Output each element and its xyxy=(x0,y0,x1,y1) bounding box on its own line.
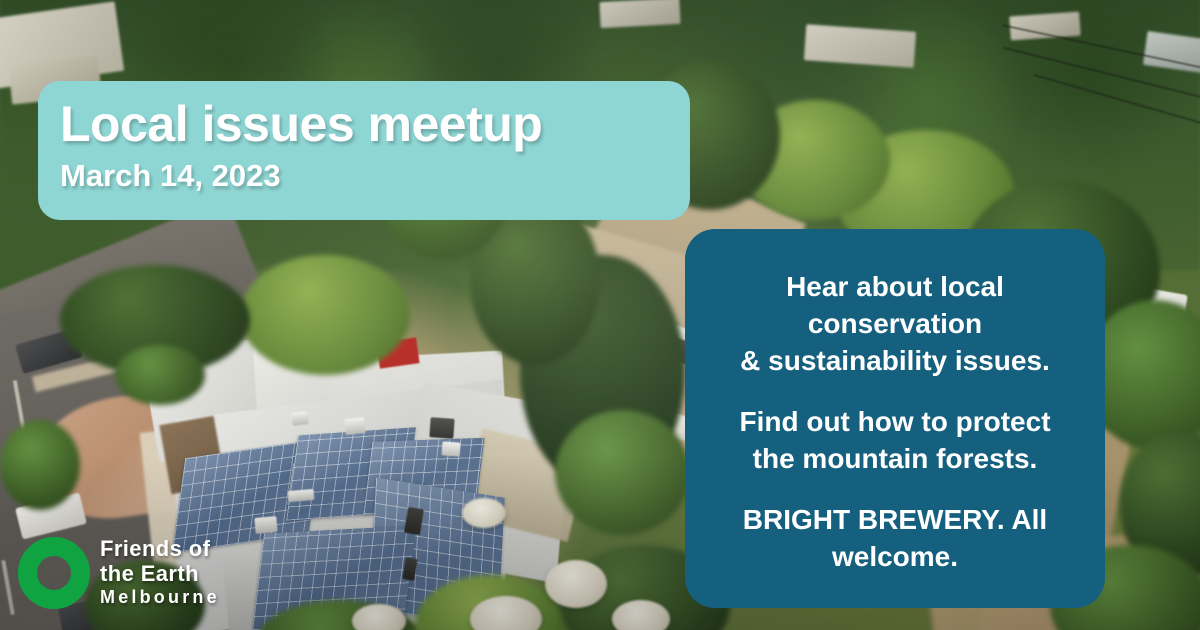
roof-vent xyxy=(442,441,461,456)
roof-vent xyxy=(344,417,366,435)
page-title: Local issues meetup xyxy=(60,95,690,153)
umbrella xyxy=(352,604,406,630)
info-paragraph-3: BRIGHT BREWERY. All welcome. xyxy=(709,501,1081,575)
umbrella xyxy=(612,600,670,630)
event-date: March 14, 2023 xyxy=(60,155,690,197)
house-roof xyxy=(1009,12,1081,41)
umbrella xyxy=(545,560,607,608)
logo-line-1: Friends of xyxy=(100,536,220,561)
umbrella xyxy=(462,498,506,528)
info-paragraph-1: Hear about local conservation & sustaina… xyxy=(709,268,1081,379)
info-paragraph-2: Find out how to protect the mountain for… xyxy=(709,403,1081,477)
logo-line-2: the Earth xyxy=(100,561,220,586)
logo-line-3: Melbourne xyxy=(100,586,220,609)
tree xyxy=(115,345,205,405)
tree xyxy=(0,420,80,510)
roof-vent xyxy=(429,417,454,439)
roof-vent xyxy=(291,411,308,426)
tree xyxy=(555,410,690,535)
event-poster: Local issues meetup March 14, 2023 Hear … xyxy=(0,0,1200,630)
house-roof xyxy=(804,24,916,68)
title-card: Local issues meetup March 14, 2023 xyxy=(38,81,690,220)
tree xyxy=(240,255,410,375)
roof-vent xyxy=(254,516,277,534)
friends-of-the-earth-logo: Friends of the Earth Melbourne xyxy=(18,536,220,609)
logo-wordmark: Friends of the Earth Melbourne xyxy=(100,536,220,609)
house-roof xyxy=(599,0,680,28)
info-panel: Hear about local conservation & sustaina… xyxy=(685,229,1105,608)
green-ring-icon xyxy=(18,537,90,609)
roof-vent xyxy=(288,489,315,502)
